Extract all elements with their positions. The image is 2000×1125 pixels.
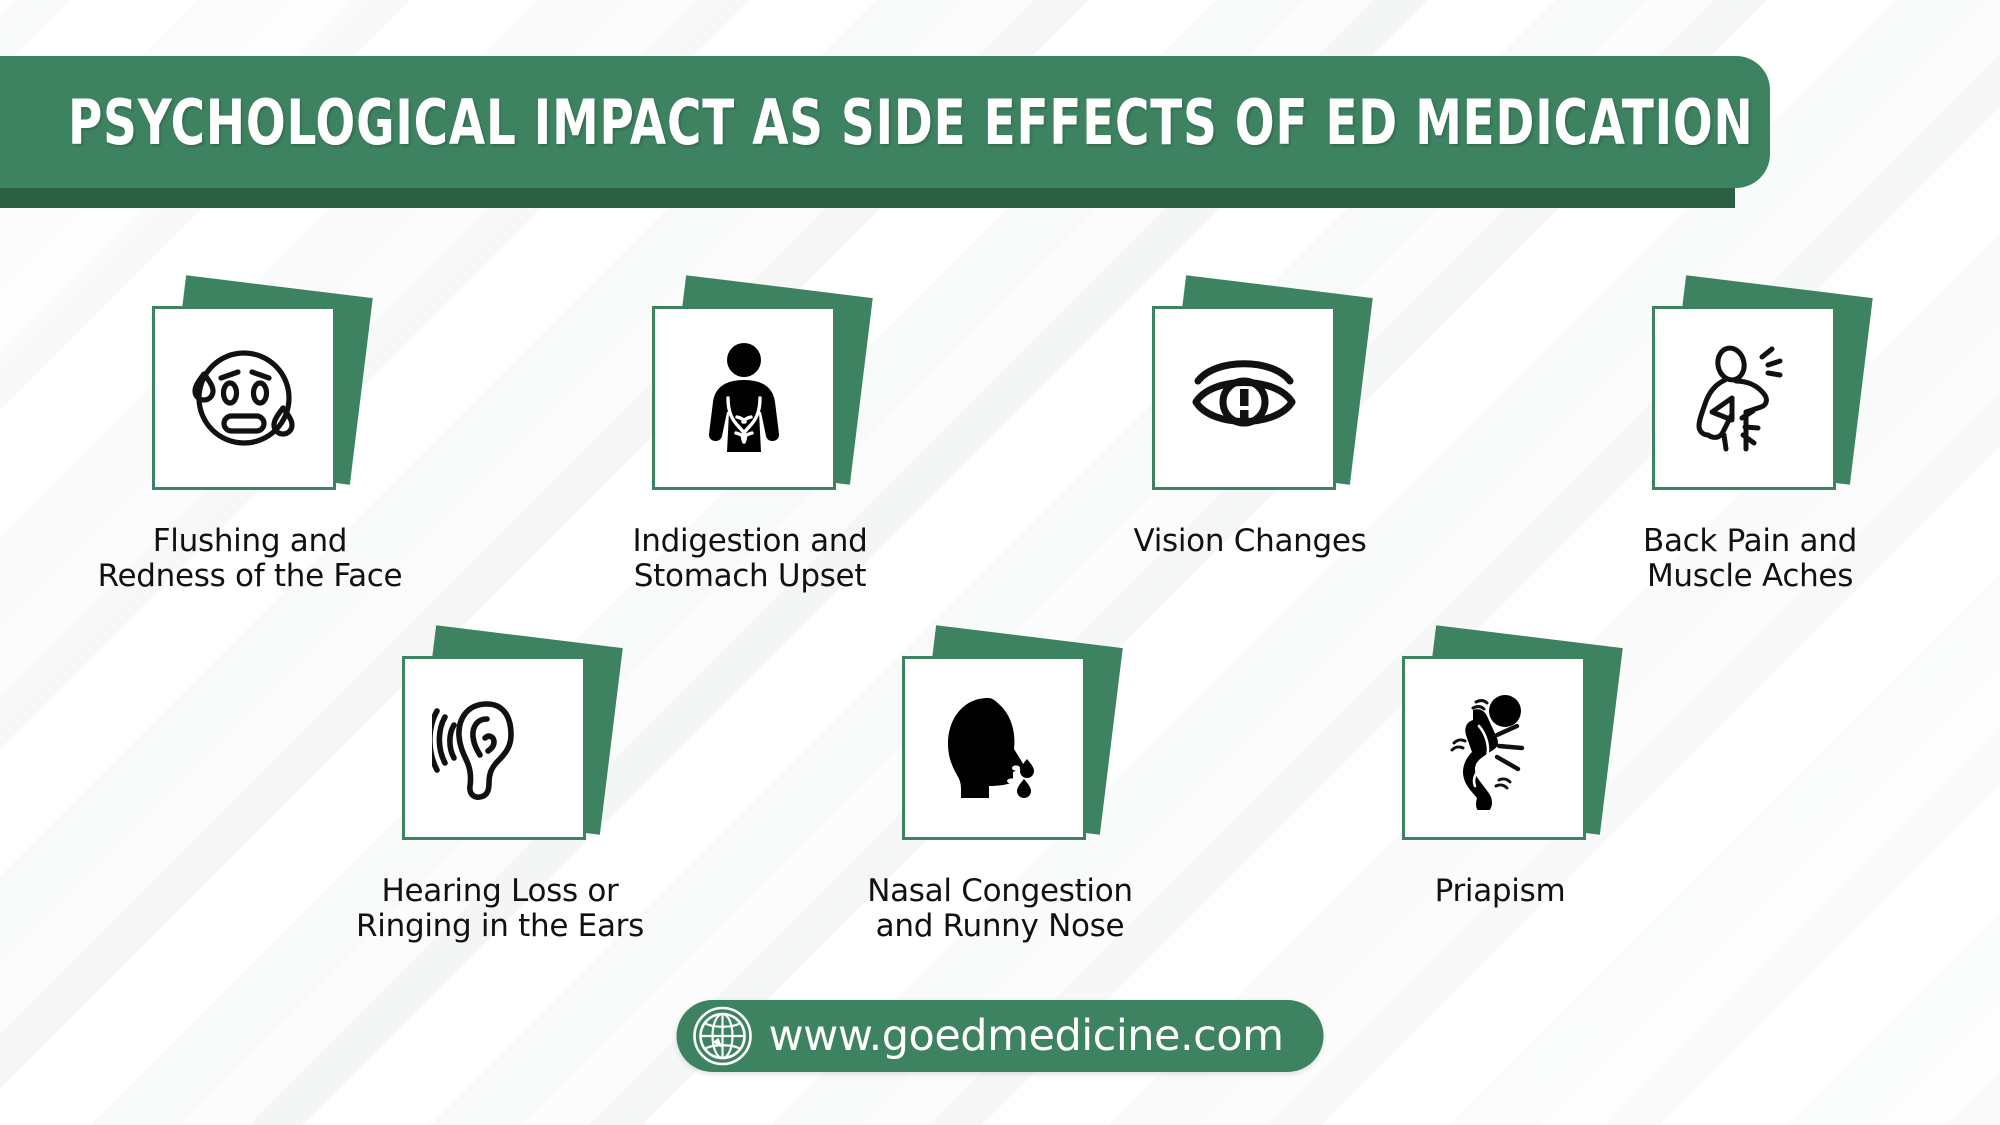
page-title: PSYCHOLOGICAL IMPACT AS SIDE EFFECTS OF … [68,86,1754,159]
icon-stack [652,300,848,496]
card-face [1652,306,1836,490]
icon-stack [1402,650,1598,846]
website-url: www.goedmedicine.com [769,1011,1284,1061]
card-indigestion[interactable]: Indigestion and Stomach Upset [570,300,930,593]
card-label: Indigestion and Stomach Upset [632,524,867,593]
icon-stack [1652,300,1848,496]
card-face [402,656,586,840]
icon-stack [1152,300,1348,496]
header-shadow-bar [0,186,1735,208]
website-footer-pill[interactable]: www.goedmedicine.com [677,1000,1324,1072]
card-flushing[interactable]: Flushing and Redness of the Face [70,300,430,593]
card-vision[interactable]: Vision Changes [1070,300,1430,593]
card-label: Hearing Loss or Ringing in the Ears [356,874,644,943]
icon-stack [152,300,348,496]
card-nasal[interactable]: Nasal Congestion and Runny Nose [820,650,1180,943]
bent-over-pain-person-icon [1432,686,1556,810]
card-face [1152,306,1336,490]
card-hearing[interactable]: Hearing Loss or Ringing in the Ears [320,650,680,943]
card-face [902,656,1086,840]
card-priapism[interactable]: Priapism [1320,650,1680,943]
icon-stack [902,650,1098,846]
stomach-ache-person-icon [682,336,806,460]
runny-nose-head-icon [932,686,1056,810]
eye-alert-icon [1182,336,1306,460]
icon-stack [402,650,598,846]
card-face [652,306,836,490]
sweating-face-icon [182,336,306,460]
back-pain-person-icon [1682,336,1806,460]
card-face [1402,656,1586,840]
card-label: Vision Changes [1133,524,1366,559]
card-label: Back Pain and Muscle Aches [1643,524,1857,593]
globe-icon [693,1006,753,1066]
card-label: Priapism [1435,874,1566,909]
side-effects-row-2: Hearing Loss or Ringing in the Ears [250,650,1750,943]
side-effects-row-1: Flushing and Redness of the Face [0,300,2000,593]
card-label: Nasal Congestion and Runny Nose [867,874,1133,943]
ear-soundwave-icon [432,686,556,810]
header-banner: PSYCHOLOGICAL IMPACT AS SIDE EFFECTS OF … [0,56,1770,188]
card-face [152,306,336,490]
header: PSYCHOLOGICAL IMPACT AS SIDE EFFECTS OF … [0,56,1770,204]
card-label: Flushing and Redness of the Face [98,524,403,593]
card-back-pain[interactable]: Back Pain and Muscle Aches [1570,300,1930,593]
